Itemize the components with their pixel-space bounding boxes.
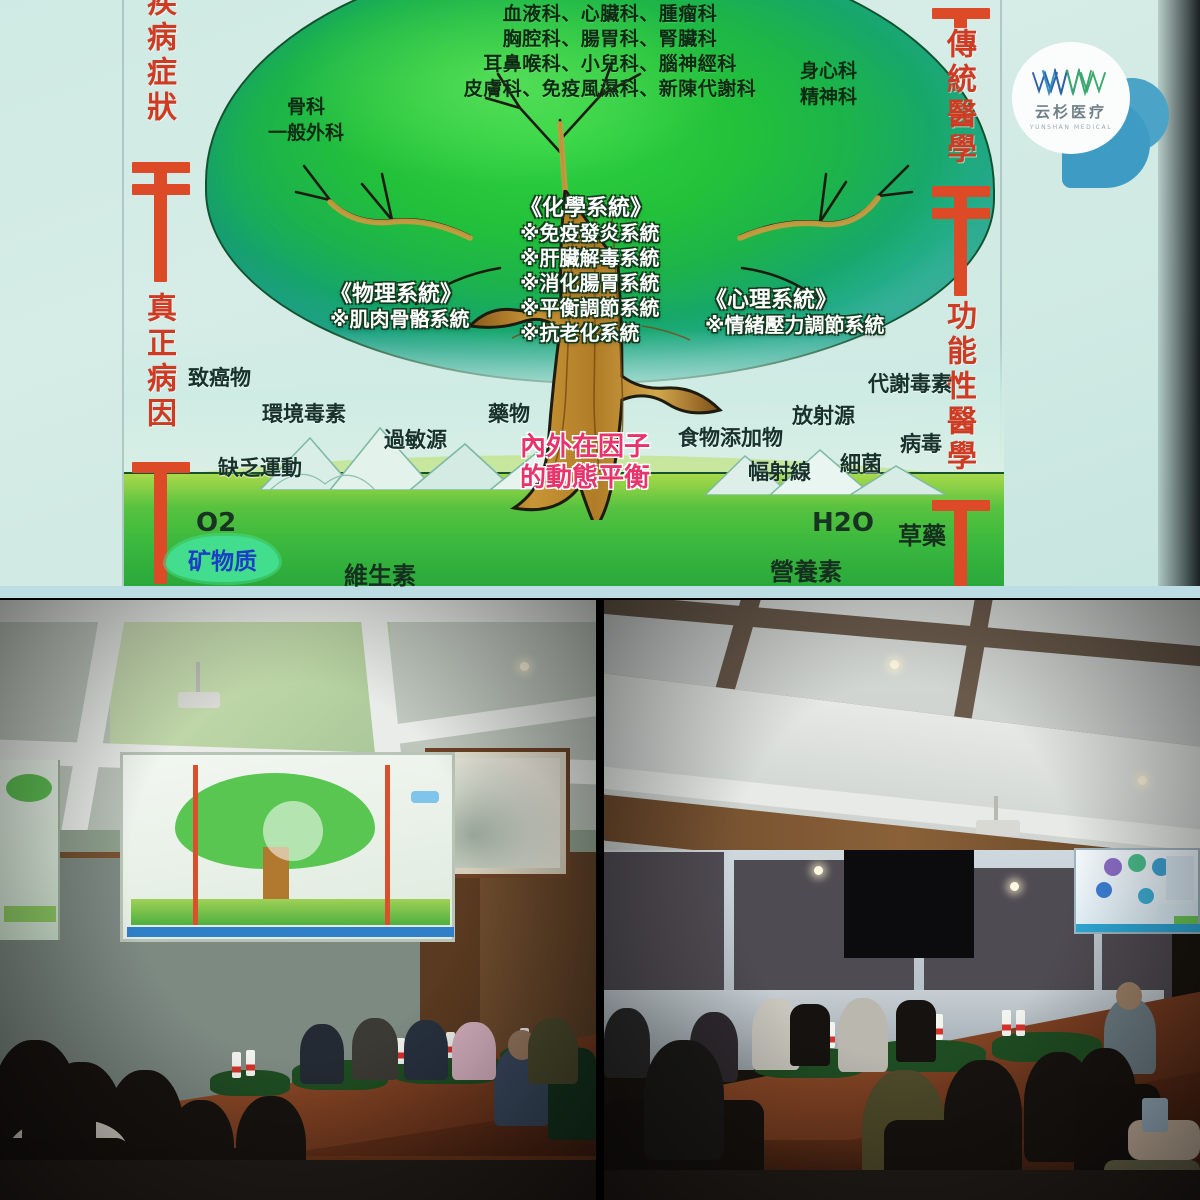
ground-label-vitamin: 維生素: [344, 556, 416, 591]
center-dynamic-balance-label: 內外在因子 的動態平衡: [520, 432, 650, 494]
left-marker-top-label: 疾病症狀: [132, 0, 180, 150]
wave-zigzag-icon: [1029, 65, 1113, 97]
photo-left-meeting-room: [0, 600, 596, 1200]
center-line-2: 的動態平衡: [520, 463, 650, 494]
ground-label-herb: 草藥: [898, 516, 946, 551]
chemical-system-title: 《化學系統》: [520, 196, 659, 221]
mineral-bubble: 矿物质: [166, 536, 279, 582]
physical-system-block: 《物理系統》 ※肌肉骨骼系統: [330, 282, 469, 332]
chemical-system-item-3: ※消化腸胃系統: [520, 271, 659, 296]
dept-right-1: 身心科: [800, 58, 857, 84]
psychological-system-title: 《心理系統》: [705, 288, 884, 313]
dept-line-4: 皮膚科、免疫風濕科、新陳代謝科: [380, 77, 840, 102]
left-marker-group: 疾病症狀 真正病因: [130, 0, 200, 598]
factor-metabolic-toxin: 代謝毒素: [868, 368, 952, 398]
chemical-system-item-4: ※平衡調節系統: [520, 296, 659, 321]
right-marker-group: 傳統醫學 功能性醫學: [930, 0, 1000, 598]
physical-system-item-1: ※肌肉骨骼系統: [330, 307, 469, 332]
psychological-system-item-1: ※情緒壓力調節系統: [705, 313, 884, 338]
photo-right-meeting-room: [604, 600, 1200, 1200]
slide-photo: 血液科、心臟科、腫瘤科 胸腔科、腸胃科、腎臟科 耳鼻喉科、小兒科、腦神經科 皮膚…: [0, 0, 1200, 598]
factor-carcinogen: 致癌物: [188, 362, 251, 392]
factor-radiation-source: 放射源: [792, 400, 855, 430]
slide-right-shadow: [1158, 0, 1200, 598]
canopy-departments-left: 骨科 一般外科: [268, 94, 344, 146]
dept-right-2: 精神科: [800, 84, 857, 110]
factor-virus: 病毒: [900, 428, 942, 458]
factor-food-additive: 食物添加物: [678, 422, 783, 452]
ground-label-h2o: H2O: [812, 508, 874, 538]
ground-label-nutrient: 營養素: [770, 552, 842, 587]
mineral-bubble-text: 矿物质: [188, 549, 257, 575]
panel-divider-vertical: [596, 598, 604, 1200]
canopy-departments-top: 血液科、心臟科、腫瘤科 胸腔科、腸胃科、腎臟科 耳鼻喉科、小兒科、腦神經科 皮膚…: [380, 2, 840, 102]
psychological-system-block: 《心理系統》 ※情緒壓力調節系統: [705, 288, 884, 338]
brand-logo: 云杉医疗 YUNSHAN MEDICAL: [1012, 42, 1130, 154]
logo-english-name: YUNSHAN MEDICAL: [1030, 124, 1112, 131]
dept-left-1: 骨科: [268, 94, 344, 120]
factor-bacteria: 細菌: [840, 448, 882, 478]
factor-environmental-toxin: 環境毒素: [262, 398, 346, 428]
chemical-system-item-2: ※肝臟解毒系統: [520, 246, 659, 271]
right-marker-bottom-label: 功能性醫學: [932, 300, 980, 496]
chemical-system-block: 《化學系統》 ※免疫發炎系統 ※肝臟解毒系統 ※消化腸胃系統 ※平衡調節系統 ※…: [520, 196, 659, 346]
left-marker-bottom-label: 真正病因: [132, 292, 180, 456]
dept-left-2: 一般外科: [268, 120, 344, 146]
chemical-system-item-5: ※抗老化系統: [520, 321, 659, 346]
dept-line-1: 血液科、心臟科、腫瘤科: [380, 2, 840, 27]
factor-drugs: 藥物: [488, 398, 530, 428]
ground-label-o2: O2: [196, 508, 236, 538]
chemical-system-item-1: ※免疫發炎系統: [520, 221, 659, 246]
dept-line-3: 耳鼻喉科、小兒科、腦神經科: [380, 52, 840, 77]
dept-line-2: 胸腔科、腸胃科、腎臟科: [380, 27, 840, 52]
logo-chinese-name: 云杉医疗: [1035, 101, 1107, 122]
right-marker-top-label: 傳統醫學: [932, 28, 980, 188]
physical-system-title: 《物理系統》: [330, 282, 469, 307]
factor-lack-of-exercise: 缺乏運動: [218, 452, 302, 482]
photo-collage: 血液科、心臟科、腫瘤科 胸腔科、腸胃科、腎臟科 耳鼻喉科、小兒科、腦神經科 皮膚…: [0, 0, 1200, 1200]
canopy-departments-right: 身心科 精神科: [800, 58, 857, 110]
center-line-1: 內外在因子: [520, 432, 650, 463]
factor-radiation-ray: 幅射線: [748, 456, 811, 486]
factor-allergen: 過敏源: [384, 424, 447, 454]
